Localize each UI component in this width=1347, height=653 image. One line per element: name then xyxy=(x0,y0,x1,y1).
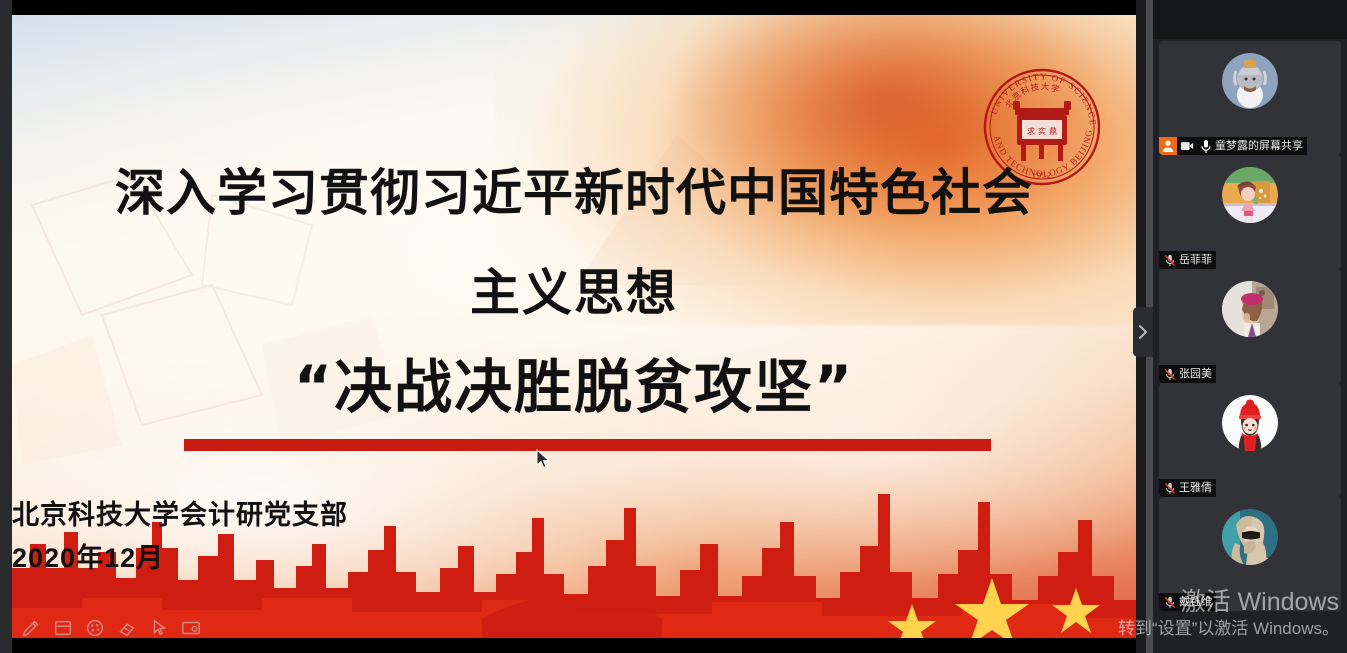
participant-tile[interactable]: 王雅倩 xyxy=(1159,383,1341,497)
participant-label: 童梦露的屏幕共享 xyxy=(1159,137,1307,155)
participant-label: 王雅倩 xyxy=(1159,479,1216,497)
participants-filmstrip[interactable]: 童梦露的屏幕共享 xyxy=(1153,0,1347,653)
participant-name: 戴钰维 xyxy=(1179,593,1212,611)
video-icon xyxy=(1180,139,1194,153)
avatar xyxy=(1222,53,1278,109)
photo-pink-hat-avatar xyxy=(1222,281,1278,337)
letterbox-top xyxy=(0,0,1136,15)
cartoon-sheep-avatar xyxy=(1222,53,1278,109)
slide-subtitle: “决战决胜脱贫攻坚” xyxy=(12,352,1136,422)
participant-tile[interactable]: 岳菲菲 xyxy=(1159,155,1341,269)
mic-muted-icon xyxy=(1164,481,1176,496)
avatar xyxy=(1222,509,1278,565)
participant-name: 张园美 xyxy=(1179,365,1212,383)
presentation-slide: UNIVERSITY OF SCIENCE AND TECHNOLOGY BEI… xyxy=(12,15,1136,638)
annotation-toolbar[interactable] xyxy=(14,613,208,643)
cursor-arrow-icon[interactable] xyxy=(148,617,170,639)
letterbox-left xyxy=(0,0,12,653)
participant-tile[interactable]: 张园美 xyxy=(1159,269,1341,383)
person-icon xyxy=(1161,139,1175,153)
screen-settings-icon[interactable] xyxy=(180,617,202,639)
participant-tile[interactable]: 童梦露的屏幕共享 xyxy=(1159,41,1341,155)
avatar xyxy=(1222,281,1278,337)
mic-muted-icon xyxy=(1164,595,1176,610)
pen-icon[interactable] xyxy=(20,617,42,639)
slide-text-block: 深入学习贯彻习近平新时代中国特色社会 主义思想 “决战决胜脱贫攻坚” 北京科技大… xyxy=(12,15,1136,638)
mic-muted-icon xyxy=(1164,367,1176,382)
participant-label: 戴钰维 xyxy=(1159,593,1216,611)
filmstrip-top-gap xyxy=(1153,0,1347,39)
photo-sunglasses-fur-avatar xyxy=(1222,509,1278,565)
participant-label: 岳菲菲 xyxy=(1159,251,1216,269)
cartoon-girl-bubbles-avatar xyxy=(1222,167,1278,223)
shared-screen-stage[interactable]: UNIVERSITY OF SCIENCE AND TECHNOLOGY BEI… xyxy=(0,0,1136,653)
eraser-icon[interactable] xyxy=(116,617,138,639)
participant-tile[interactable]: 戴钰维 xyxy=(1159,497,1341,611)
shapes-icon[interactable] xyxy=(52,617,74,639)
collapse-filmstrip-button[interactable] xyxy=(1133,307,1153,357)
participant-name: 童梦露的屏幕共享 xyxy=(1215,137,1303,155)
slide-red-rule xyxy=(184,439,991,451)
slide-organization: 北京科技大学会计研党支部 xyxy=(12,493,1136,532)
slide-date: 2020年12月 xyxy=(12,536,1136,575)
avatar xyxy=(1222,167,1278,223)
participant-label: 张园美 xyxy=(1159,365,1216,383)
screen-share-badge xyxy=(1159,137,1177,155)
mic-muted-icon xyxy=(1164,253,1176,268)
mic-icon xyxy=(1200,139,1212,154)
cartoon-red-beanie-avatar xyxy=(1222,395,1278,451)
avatar xyxy=(1222,395,1278,451)
palette-icon[interactable] xyxy=(84,617,106,639)
slide-title-line2: 主义思想 xyxy=(12,263,1136,323)
mouse-cursor xyxy=(536,449,550,469)
participant-name: 岳菲菲 xyxy=(1179,251,1212,269)
chevron-right-icon xyxy=(1137,323,1149,341)
slide-title-line1: 深入学习贯彻习近平新时代中国特色社会 xyxy=(12,163,1136,223)
participant-name: 王雅倩 xyxy=(1179,479,1212,497)
video-conference-window: UNIVERSITY OF SCIENCE AND TECHNOLOGY BEI… xyxy=(0,0,1347,653)
